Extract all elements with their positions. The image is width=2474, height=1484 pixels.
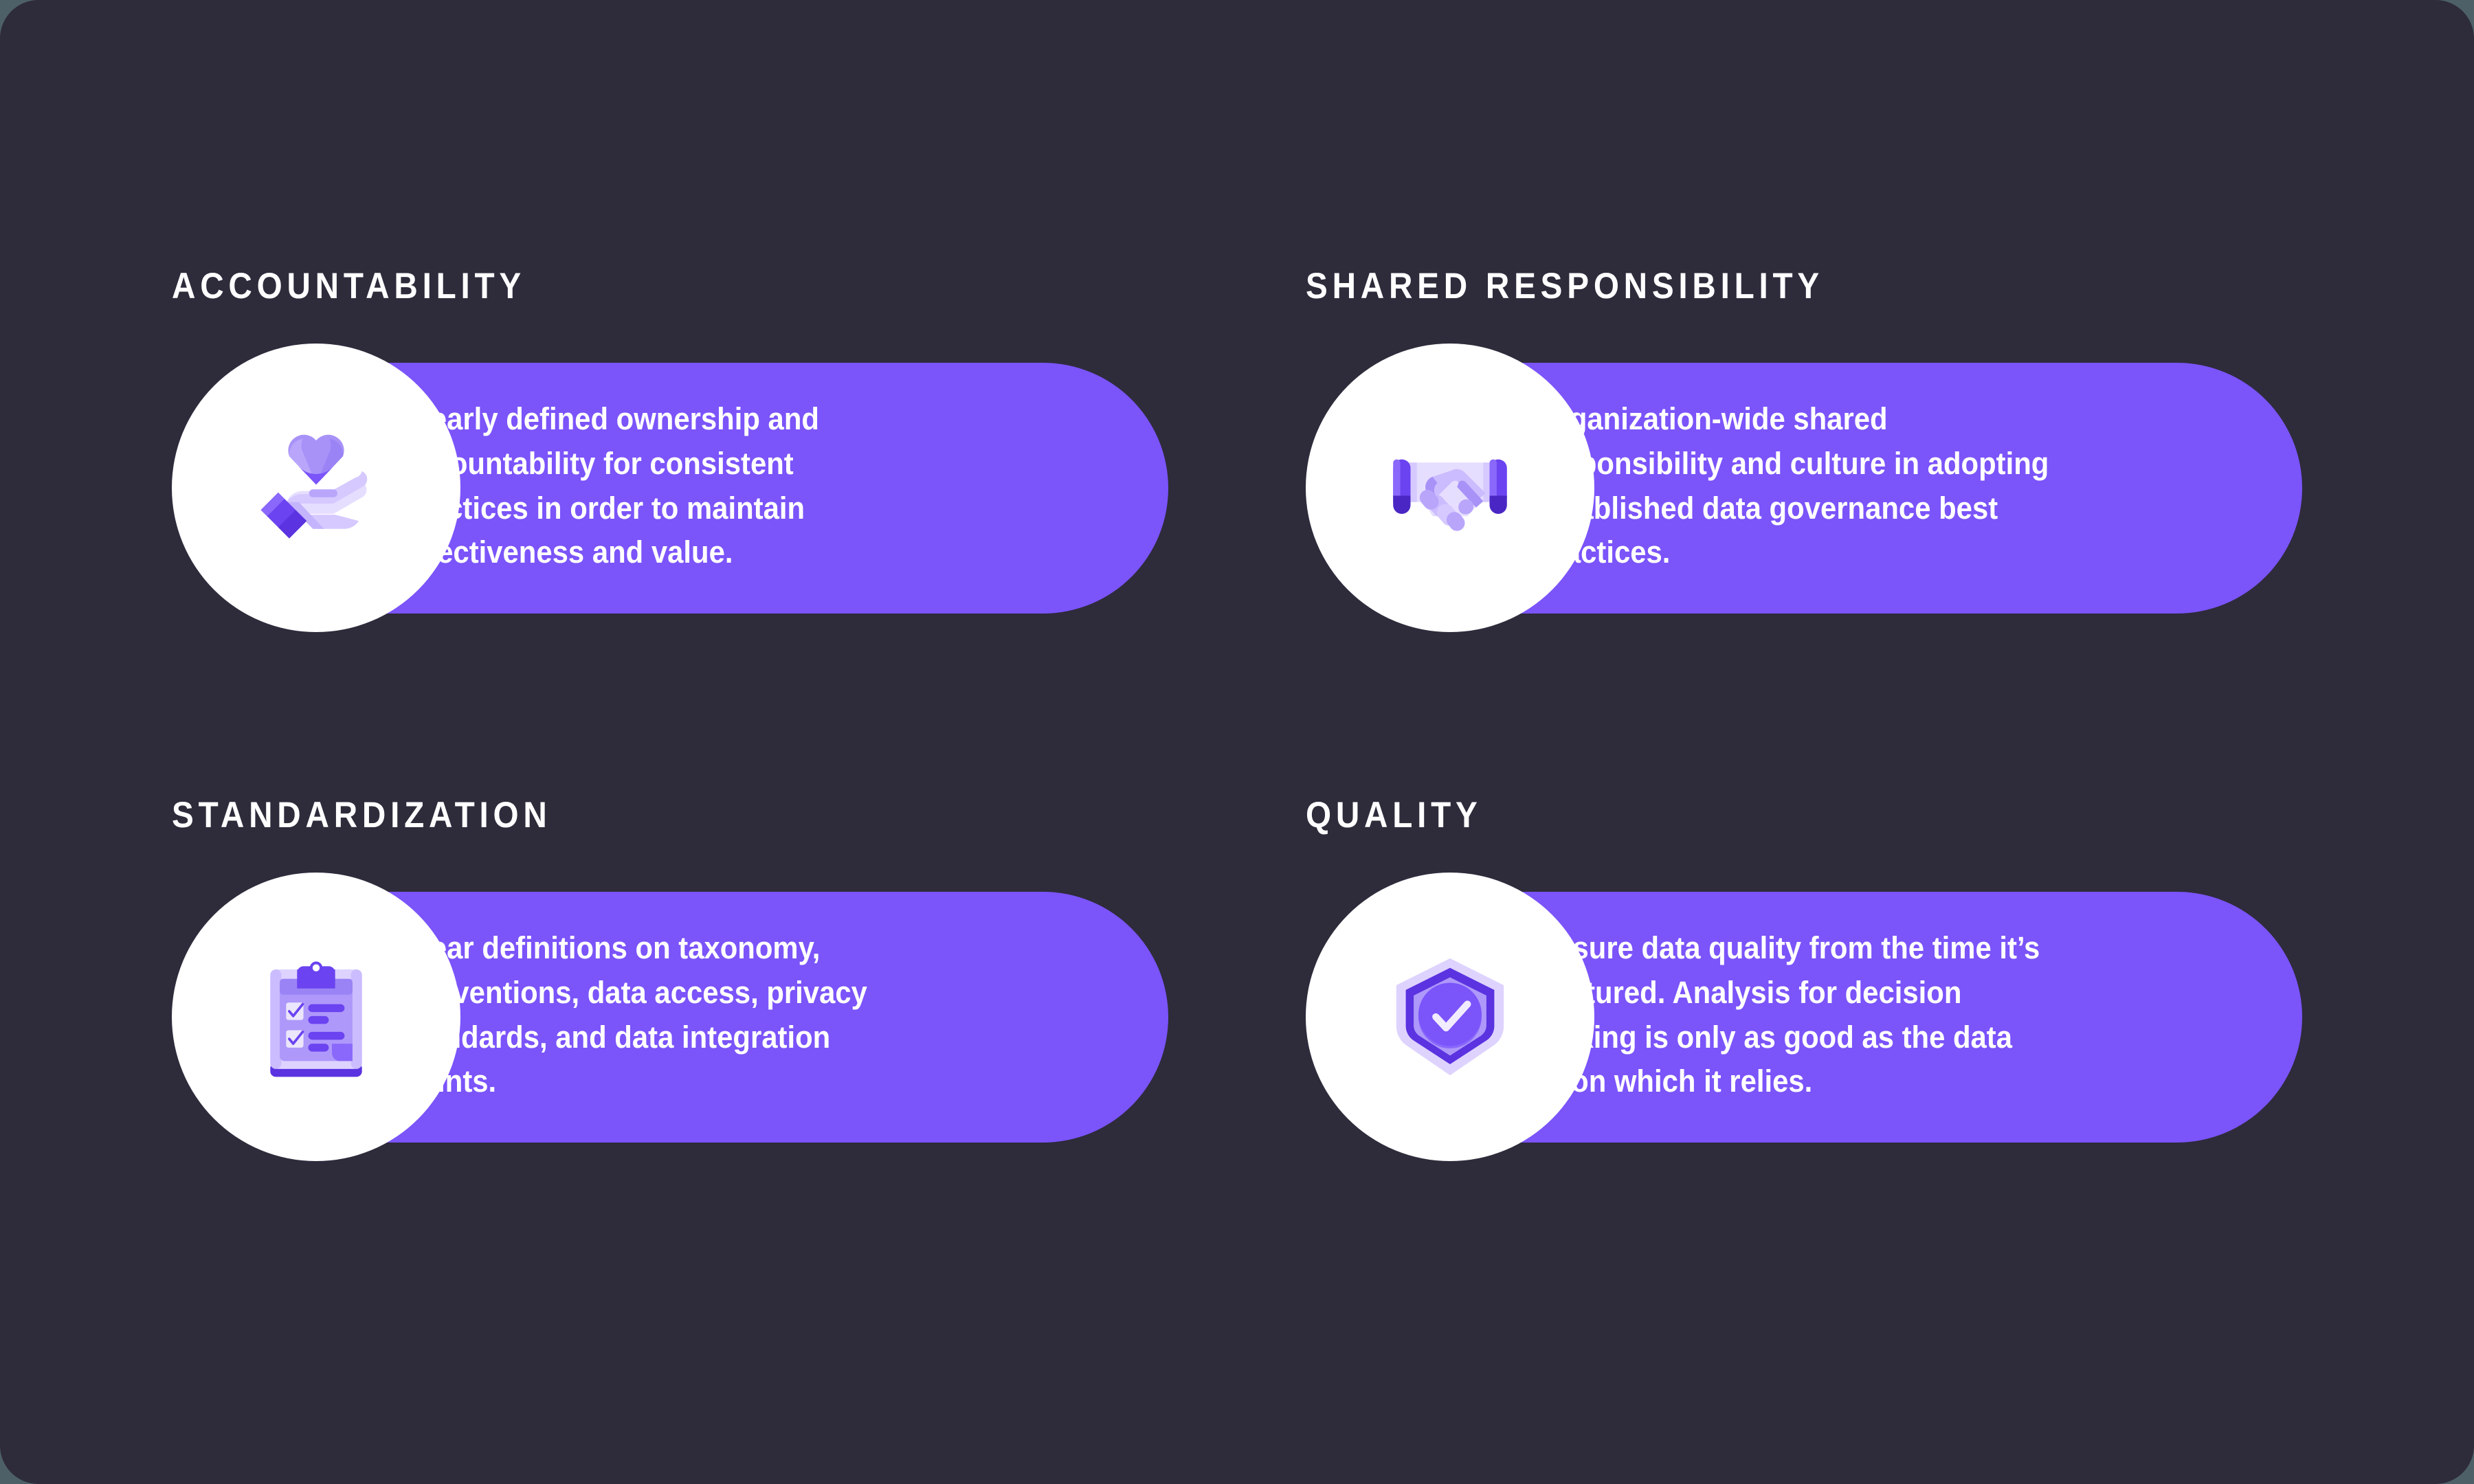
card-icon-circle [172, 344, 460, 632]
card-icon-circle [172, 873, 460, 1161]
card-body-pill-wrapper: Organization-wide shared responsibility … [1306, 344, 2302, 632]
infographic-panel: ACCOUNTABILITY Clearly defined ownership… [0, 0, 2474, 1484]
card-body-pill-wrapper: Clearly defined ownership and accountabi… [172, 344, 1168, 632]
principle-card-shared-responsibility[interactable]: SHARED RESPONSIBILITY Organization-wide … [1306, 268, 2302, 653]
principle-card-quality[interactable]: QUALITY Ensure data quality from the tim… [1306, 797, 2302, 1182]
card-description: Clearly defined ownership and accountabi… [402, 397, 920, 575]
card-title: SHARED RESPONSIBILITY [1306, 268, 1824, 304]
heart-in-hand-icon [237, 409, 395, 567]
card-title: QUALITY [1306, 797, 1482, 833]
card-title: STANDARDIZATION [172, 797, 552, 833]
shield-check-icon [1371, 938, 1529, 1096]
principles-grid: ACCOUNTABILITY Clearly defined ownership… [172, 268, 2302, 1202]
principle-card-standardization[interactable]: STANDARDIZATION Clear definitions on tax… [172, 797, 1168, 1182]
card-body-pill-wrapper: Ensure data quality from the time it’s c… [1306, 873, 2302, 1161]
clipboard-checklist-icon [237, 938, 395, 1096]
card-body-pill-wrapper: Clear definitions on taxonomy, conventio… [172, 873, 1168, 1161]
handshake-icon [1371, 409, 1529, 567]
card-description: Organization-wide shared responsibility … [1536, 397, 2053, 575]
principle-card-accountability[interactable]: ACCOUNTABILITY Clearly defined ownership… [172, 268, 1168, 653]
card-description: Ensure data quality from the time it’s c… [1536, 926, 2053, 1104]
card-description: Clear definitions on taxonomy, conventio… [402, 926, 920, 1104]
card-title: ACCOUNTABILITY [172, 268, 526, 304]
card-icon-circle [1306, 873, 1594, 1161]
card-icon-circle [1306, 344, 1594, 632]
